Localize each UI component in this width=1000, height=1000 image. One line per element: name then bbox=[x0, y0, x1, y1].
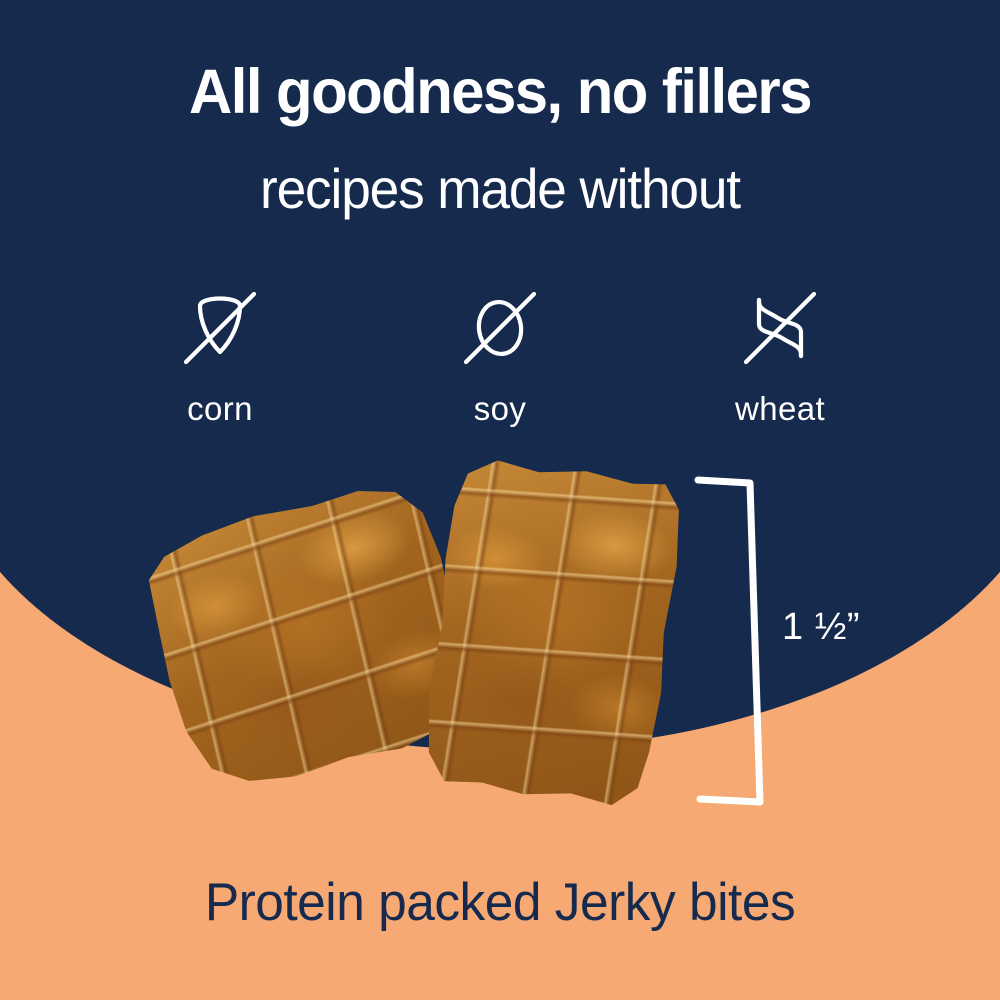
free-from-label-soy: soy bbox=[474, 392, 527, 425]
page-title: All goodness, no fillers bbox=[25, 60, 975, 124]
free-from-label-wheat: wheat bbox=[735, 392, 825, 425]
product-infographic: All goodness, no fillers recipes made wi… bbox=[0, 0, 1000, 1000]
no-soy-icon bbox=[450, 278, 550, 378]
no-corn-icon bbox=[170, 278, 270, 378]
free-from-label-corn: corn bbox=[187, 392, 253, 425]
free-from-item-corn: corn bbox=[120, 278, 320, 425]
no-wheat-icon bbox=[730, 278, 830, 378]
product-photo bbox=[150, 455, 750, 875]
free-from-item-wheat: wheat bbox=[680, 278, 880, 425]
free-from-item-soy: soy bbox=[400, 278, 600, 425]
product-caption: Protein packed Jerky bites bbox=[15, 876, 985, 929]
page-subtitle: recipes made without bbox=[25, 160, 975, 219]
free-from-list: corn soy bbox=[120, 278, 880, 425]
size-label: 1 ½” bbox=[782, 608, 860, 646]
jerky-bite-right bbox=[415, 452, 689, 813]
size-bracket-icon bbox=[694, 472, 784, 812]
size-label-value: 1 ½” bbox=[782, 606, 860, 648]
